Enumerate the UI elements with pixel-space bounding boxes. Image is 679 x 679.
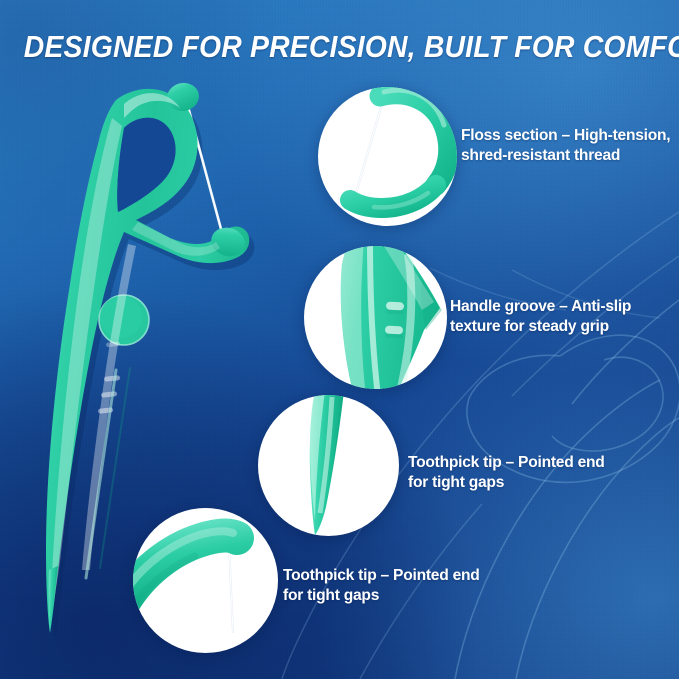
callout-label-toothpick-tip-2: Toothpick tip – Pointed end for tight ga… [283, 566, 480, 606]
callout-handle-groove [304, 246, 447, 389]
page-title: DESIGNED FOR PRECISION, BUILT FOR COMFOR… [24, 30, 655, 65]
floss-arm-closeup-icon [133, 508, 278, 653]
callout-toothpick-tip [258, 395, 399, 536]
floss-fork-closeup-icon [318, 87, 457, 226]
callout-label-toothpick-tip: Toothpick tip – Pointed end for tight ga… [408, 453, 605, 493]
infographic-canvas: DESIGNED FOR PRECISION, BUILT FOR COMFOR… [0, 0, 679, 679]
handle-groove-closeup-icon [304, 246, 447, 389]
callout-label-handle-groove: Handle groove – Anti-slip texture for st… [450, 297, 631, 337]
callout-toothpick-tip-2 [133, 508, 278, 653]
callout-floss-section [318, 87, 457, 226]
callout-label-floss-section: Floss section – High-tension, shred-resi… [461, 126, 670, 166]
toothpick-tip-closeup-icon [258, 395, 399, 536]
